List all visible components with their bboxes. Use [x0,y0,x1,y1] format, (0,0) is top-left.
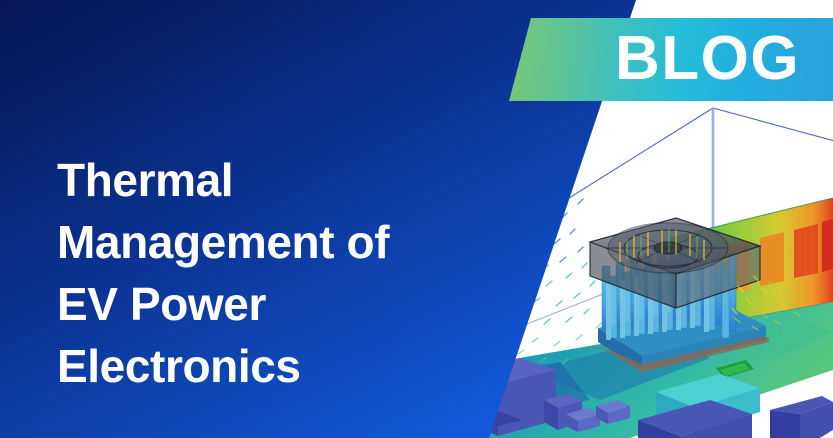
fan-rotor [608,223,728,273]
blog-banner-card: BLOG Thermal Management of EV Power Elec… [0,0,833,438]
page-title: Thermal Management of EV Power Electroni… [57,149,487,397]
category-label: BLOG [615,24,800,94]
